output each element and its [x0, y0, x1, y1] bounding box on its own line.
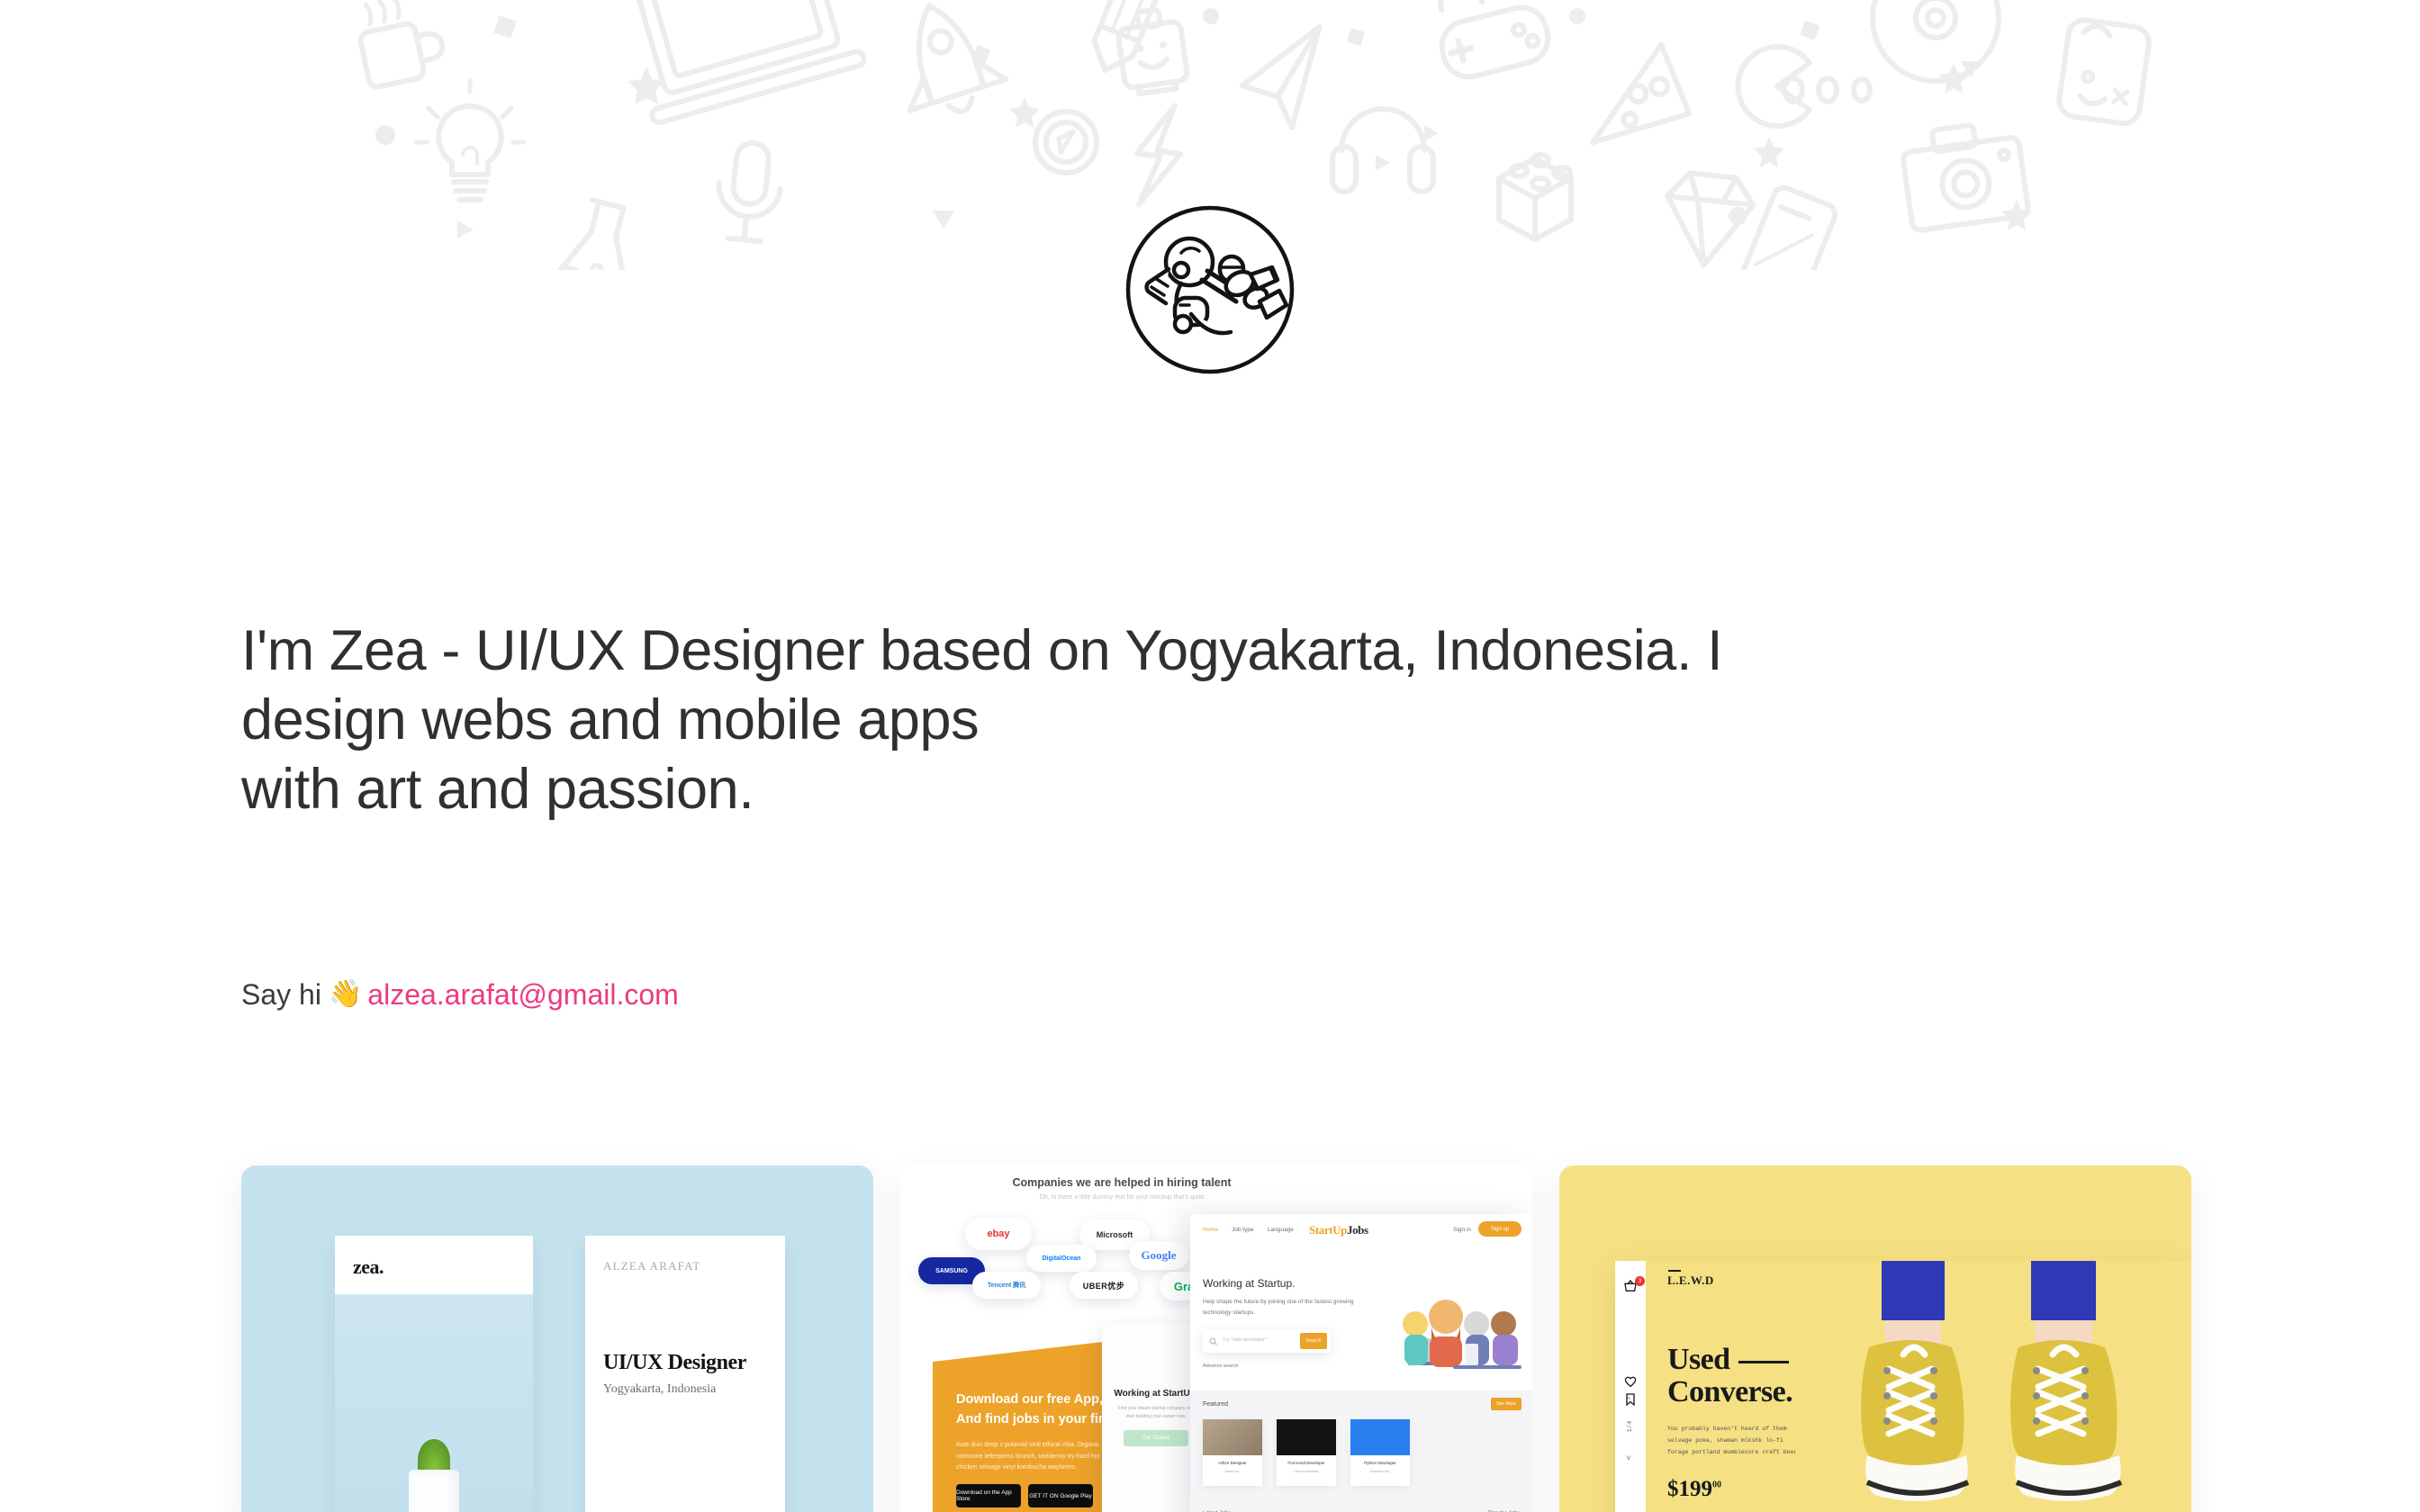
bookmark-icon[interactable]: [1623, 1392, 1638, 1407]
converse-product-photo: [1795, 1261, 2191, 1512]
side-action-rail: 3 1/4 ^ v: [1615, 1261, 1646, 1512]
lego-brick-icon: [1499, 155, 1571, 239]
job-card[interactable]: Python Developer Dropbox Inc.: [1350, 1419, 1410, 1486]
app-cta-paragraph: Aute duis deep v polaroid viral ethical …: [956, 1440, 1120, 1473]
product-description: You probably haven't heard of them selva…: [1667, 1423, 1802, 1458]
portfolio-card-grid: zea. ALZEA ARAFAT UI/UX Designer Yogyaka…: [0, 1165, 2420, 1512]
browser-navbar: Home Job type Language StartUpJobs Sign …: [1190, 1214, 1532, 1248]
smartphone-icon: [1737, 184, 1838, 270]
zea-wordmark: zea.: [353, 1255, 384, 1279]
brand-cover-tile: zea.: [335, 1236, 533, 1512]
portfolio-landing-page: I'm Zea - UI/UX Designer based on Yogyak…: [0, 0, 2420, 1512]
nav-home[interactable]: Home: [1203, 1227, 1218, 1233]
logo-ebay: ebay: [965, 1218, 1032, 1250]
camera-icon: [1900, 119, 2029, 231]
logo-tencent: Tencent 腾讯: [972, 1272, 1041, 1299]
headphones-icon: [1332, 109, 1433, 192]
microphone-icon: [714, 139, 785, 243]
logo-digitalocean: DigitalOcean: [1026, 1245, 1097, 1272]
gamepad-icon: [1428, 0, 1553, 82]
page-title: I'm Zea - UI/UX Designer based on Yogyak…: [241, 616, 2042, 824]
nav-signin[interactable]: Sign in: [1453, 1227, 1471, 1233]
companies-heading: Companies we are helped in hiring talent: [933, 1176, 1311, 1189]
portfolio-card-startupjobs[interactable]: Companies we are helped in hiring talent…: [900, 1165, 1532, 1512]
see-more-button[interactable]: See More: [1491, 1398, 1522, 1410]
title-rule: [1738, 1361, 1789, 1363]
job-company: Uber Indonesia: [1277, 1469, 1336, 1473]
dot-icon: [375, 8, 1747, 225]
companies-subheading: Oh, hi there a little dummy text for you…: [933, 1194, 1311, 1201]
diamond-icon: [1661, 171, 1756, 269]
browser-hero-paragraph: Help shape the future by joining one of …: [1203, 1297, 1356, 1319]
google-play-badge[interactable]: GET IT ON Google Play: [1028, 1484, 1093, 1507]
contact-line: Say hi 👋 alzea.arafat@gmail.com: [241, 977, 679, 1012]
contact-prefix: Say hi: [241, 977, 321, 1012]
plant-photo: [335, 1294, 533, 1512]
job-title: Front-end Developer: [1277, 1461, 1336, 1465]
logo-uber: UBER优步: [1070, 1272, 1138, 1299]
app-cta-line-1: Download our free App,: [956, 1392, 1103, 1407]
team-illustration: [1390, 1291, 1525, 1371]
product-title: Used Converse.: [1667, 1344, 1792, 1408]
person-role: UI/UX Designer: [603, 1351, 746, 1375]
astronaut-logo[interactable]: [1124, 204, 1296, 375]
job-thumbnail: [1350, 1419, 1410, 1455]
portfolio-card-branding[interactable]: zea. ALZEA ARAFAT UI/UX Designer Yogyaka…: [241, 1165, 873, 1512]
chevron-up-icon[interactable]: ^: [1627, 1396, 1630, 1404]
heart-icon[interactable]: [1623, 1374, 1638, 1389]
note-icon: [2057, 18, 2151, 125]
phone-get-started-button[interactable]: Get Started: [1124, 1430, 1188, 1446]
browser-hero-title: Working at Startup.: [1203, 1277, 1296, 1290]
browser-brand: StartUpJobs: [1309, 1223, 1368, 1237]
headline-line-1: I'm Zea - UI/UX Designer based on Yogyak…: [241, 616, 2042, 686]
lightbulb-icon: [416, 81, 524, 200]
job-title: UI/UX Designer: [1203, 1461, 1262, 1465]
slide-counter: 1/4: [1627, 1415, 1634, 1438]
lewd-product-page-mock: 3 1/4 ^ v L.E.W.D Used Converse. You: [1615, 1261, 2191, 1512]
job-title: Python Developer: [1350, 1461, 1410, 1465]
product-price: $19900: [1667, 1477, 1721, 1502]
person-location: Yogyakarta, Indonesia: [603, 1382, 716, 1397]
compass-icon: [1035, 112, 1097, 173]
nav-job-type[interactable]: Job type: [1232, 1227, 1254, 1233]
pacman-icon: [1738, 47, 1810, 126]
featured-label: Featured: [1203, 1401, 1228, 1408]
browser-search-box[interactable]: Try "web developer" Search: [1203, 1329, 1331, 1353]
person-name: ALZEA ARAFAT: [603, 1259, 700, 1273]
lego-head-icon: [1115, 6, 1189, 95]
product-title-line-1: Used: [1667, 1343, 1729, 1376]
job-card[interactable]: Front-end Developer Uber Indonesia: [1277, 1419, 1336, 1486]
chevron-down-icon[interactable]: v: [1627, 1453, 1630, 1462]
job-thumbnail: [1277, 1419, 1336, 1455]
cart-count-badge: 3: [1635, 1276, 1645, 1286]
app-store-badge[interactable]: Download on the App Store: [956, 1484, 1021, 1507]
job-thumbnail: [1203, 1419, 1262, 1455]
headline-line-2: design webs and mobile apps: [241, 686, 2042, 755]
phone-paragraph: Find your dream startup company and star…: [1115, 1405, 1197, 1420]
job-company: Slack Inc.: [1203, 1469, 1262, 1473]
dot-icon: [1784, 78, 1870, 102]
advance-search-toggle[interactable]: Advance search: [1203, 1363, 1238, 1369]
search-icon: [1209, 1337, 1217, 1345]
square-icon: [493, 15, 1820, 63]
product-title-line-2: Converse.: [1667, 1375, 1792, 1408]
search-button[interactable]: Search: [1300, 1333, 1327, 1349]
pencil-icon: [1086, 0, 1164, 78]
lightning-bolt-icon: [1130, 102, 1187, 210]
cd-disc-icon: [1873, 0, 1999, 81]
portfolio-card-lewd[interactable]: 3 1/4 ^ v L.E.W.D Used Converse. You: [1559, 1165, 2191, 1512]
job-company: Dropbox Inc.: [1350, 1469, 1410, 1473]
coffee-mug-icon: [354, 0, 448, 88]
job-card[interactable]: UI/UX Designer Slack Inc.: [1203, 1419, 1262, 1486]
waving-hand-icon: 👋: [329, 981, 362, 1008]
lewd-wordmark: L.E.W.D: [1667, 1273, 1714, 1288]
nav-signup-button[interactable]: Sign up: [1478, 1221, 1522, 1237]
startupjobs-browser-mock: Home Job type Language StartUpJobs Sign …: [1190, 1214, 1532, 1512]
paper-plane-icon: [1237, 27, 1330, 132]
featured-jobs-section: Featured See More UI/UX Designer Slack I…: [1190, 1390, 1532, 1512]
headline-line-3: with art and passion.: [241, 755, 2042, 824]
search-placeholder: Try "web developer": [1223, 1337, 1267, 1343]
laptop-icon: [616, 0, 866, 124]
plant-pot-icon: [409, 1470, 459, 1512]
logo-google: Google: [1129, 1241, 1188, 1270]
pizza-icon: [1593, 36, 1700, 158]
rocket-icon: [881, 0, 1012, 127]
flask-icon: [553, 196, 646, 270]
business-card-tile: ALZEA ARAFAT UI/UX Designer Yogyakarta, …: [585, 1236, 785, 1512]
email-link[interactable]: alzea.arafat@gmail.com: [367, 977, 679, 1012]
star-icon: [628, 63, 2032, 230]
nav-language[interactable]: Language: [1268, 1227, 1294, 1233]
